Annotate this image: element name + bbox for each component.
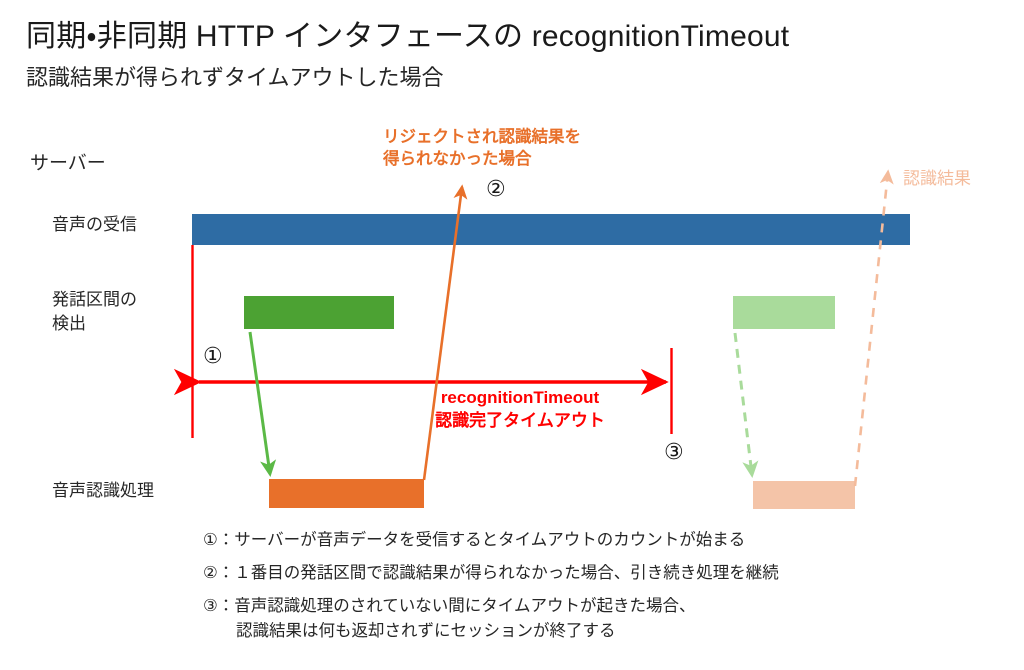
timeout-note-en: recognitionTimeout xyxy=(385,386,655,409)
row-label-audio-receive: 音声の受信 xyxy=(52,213,137,237)
recognition-result-note: 認識結果 xyxy=(903,168,971,190)
row-label-speech-recognition: 音声認識処理 xyxy=(52,479,154,503)
timeout-note-ja: 認識完了タイムアウト xyxy=(385,409,655,432)
speech-to-recognition-arrow-1 xyxy=(250,332,270,474)
page-subtitle: 認識結果が得られずタイムアウトした場合 xyxy=(26,63,444,93)
audio-receive-bar xyxy=(192,214,910,245)
legend-item: ①：サーバーが音声データを受信するとタイムアウトのカウントが始まる xyxy=(203,528,1003,553)
legend-item: ③：音声認識処理のされていない間にタイムアウトが起きた場合、 認識結果は何も返却… xyxy=(203,594,1003,644)
marker-three: ③ xyxy=(664,441,684,463)
slide-canvas: 同期・非同期 HTTP インタフェースの recognitionTimeout … xyxy=(0,0,1024,670)
marker-one: ① xyxy=(203,345,223,367)
recognition-process-bar-1 xyxy=(269,479,424,508)
speech-to-recognition-arrow-2 xyxy=(735,333,752,475)
page-title: 同期・非同期 HTTP インタフェースの recognitionTimeout xyxy=(26,18,789,56)
speech-segment-bar-1 xyxy=(244,296,394,329)
server-label: サーバー xyxy=(30,152,106,176)
marker-two: ② xyxy=(486,178,506,200)
reject-note: リジェクトされ認識結果を 得られなかった場合 xyxy=(383,126,581,170)
timeout-note: recognitionTimeout 認識完了タイムアウト xyxy=(385,386,655,432)
recognition-process-bar-2 xyxy=(753,481,855,509)
legend-item: ②：１番目の発話区間で認識結果が得られなかった場合、引き続き処理を継続 xyxy=(203,561,1003,586)
speech-segment-bar-2 xyxy=(733,296,835,329)
row-label-speech-detection: 発話区間の 検出 xyxy=(52,288,137,336)
legend-list: ①：サーバーが音声データを受信するとタイムアウトのカウントが始まる ②：１番目の… xyxy=(203,528,1003,644)
